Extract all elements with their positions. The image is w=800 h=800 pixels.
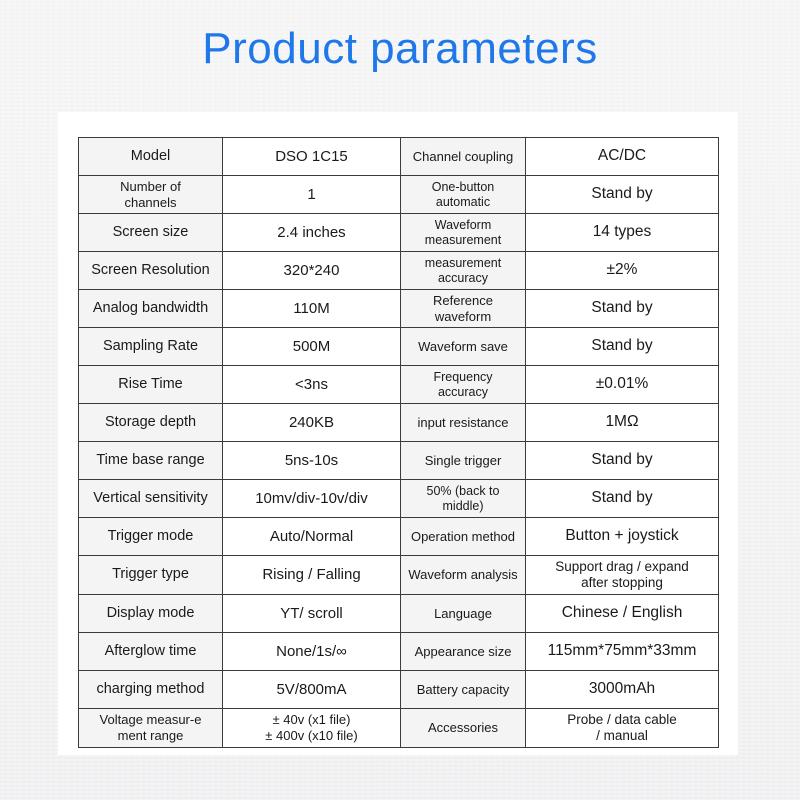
param-value-left: None/1s/∞ — [223, 632, 401, 670]
param-value-right: ±0.01% — [526, 366, 719, 404]
spec-table-row: charging method5V/800mABattery capacity3… — [79, 670, 719, 708]
param-value-left: Rising / Falling — [223, 556, 401, 595]
param-label-left: Time base range — [79, 442, 223, 480]
param-value-right: ±2% — [526, 252, 719, 290]
param-value-left: DSO 1C15 — [223, 138, 401, 176]
param-label-right: 50% (back tomiddle) — [401, 480, 526, 518]
spec-table-row: Display modeYT/ scrollLanguageChinese / … — [79, 594, 719, 632]
spec-table-row: Time base range5ns-10sSingle triggerStan… — [79, 442, 719, 480]
param-value-left: 500M — [223, 328, 401, 366]
param-label-right: Accessories — [401, 708, 526, 747]
param-value-left: 240KB — [223, 404, 401, 442]
param-label-right: Reference waveform — [401, 290, 526, 328]
spec-table-body: ModelDSO 1C15Channel couplingAC/DCNumber… — [79, 138, 719, 748]
param-label-left: Rise Time — [79, 366, 223, 404]
param-label-left: Vertical sensitivity — [79, 480, 223, 518]
param-value-left: 5ns-10s — [223, 442, 401, 480]
param-label-left: Analog bandwidth — [79, 290, 223, 328]
param-label-right: measurementaccuracy — [401, 252, 526, 290]
param-label-left: Trigger mode — [79, 518, 223, 556]
spec-card: ModelDSO 1C15Channel couplingAC/DCNumber… — [58, 112, 738, 755]
spec-table-row: Analog bandwidth110MReference waveformSt… — [79, 290, 719, 328]
param-label-left: Display mode — [79, 594, 223, 632]
param-value-left: ± 40v (x1 file)± 400v (x10 file) — [223, 708, 401, 747]
param-label-left: Trigger type — [79, 556, 223, 595]
param-value-right: 115mm*75mm*33mm — [526, 632, 719, 670]
param-label-right: One-buttonautomatic — [401, 176, 526, 214]
param-label-left: Screen size — [79, 214, 223, 252]
spec-table-row: Trigger modeAuto/NormalOperation methodB… — [79, 518, 719, 556]
param-value-right: Chinese / English — [526, 594, 719, 632]
param-value-right: Button + joystick — [526, 518, 719, 556]
product-parameters-table: ModelDSO 1C15Channel couplingAC/DCNumber… — [78, 137, 719, 748]
param-value-right: AC/DC — [526, 138, 719, 176]
spec-table-row: Rise Time<3nsFrequencyaccuracy±0.01% — [79, 366, 719, 404]
param-label-right: Language — [401, 594, 526, 632]
param-value-left: 2.4 inches — [223, 214, 401, 252]
param-value-left: 10mv/div-10v/div — [223, 480, 401, 518]
spec-table-row: Number ofchannels1One-buttonautomaticSta… — [79, 176, 719, 214]
param-value-left: <3ns — [223, 366, 401, 404]
param-label-right: Waveformmeasurement — [401, 214, 526, 252]
param-label-left: Voltage measur-ement range — [79, 708, 223, 747]
spec-table-row: Storage depth240KBinput resistance1MΩ — [79, 404, 719, 442]
param-label-left: Storage depth — [79, 404, 223, 442]
param-value-right: 14 types — [526, 214, 719, 252]
param-label-right: Channel coupling — [401, 138, 526, 176]
param-label-right: Frequencyaccuracy — [401, 366, 526, 404]
param-value-right: Support drag / expandafter stopping — [526, 556, 719, 595]
param-label-right: Waveform save — [401, 328, 526, 366]
param-label-right: Waveform analysis — [401, 556, 526, 595]
param-value-left: 5V/800mA — [223, 670, 401, 708]
param-label-right: Battery capacity — [401, 670, 526, 708]
param-value-right: Stand by — [526, 480, 719, 518]
param-label-right: Single trigger — [401, 442, 526, 480]
param-label-left: Afterglow time — [79, 632, 223, 670]
param-label-right: Appearance size — [401, 632, 526, 670]
spec-table-row: Afterglow timeNone/1s/∞Appearance size11… — [79, 632, 719, 670]
param-value-right: Stand by — [526, 176, 719, 214]
param-value-right: 1MΩ — [526, 404, 719, 442]
param-label-right: input resistance — [401, 404, 526, 442]
param-label-left: Screen Resolution — [79, 252, 223, 290]
spec-table-row: Voltage measur-ement range± 40v (x1 file… — [79, 708, 719, 747]
param-label-left: Model — [79, 138, 223, 176]
param-value-right: Probe / data cable/ manual — [526, 708, 719, 747]
spec-table-row: ModelDSO 1C15Channel couplingAC/DC — [79, 138, 719, 176]
param-value-left: Auto/Normal — [223, 518, 401, 556]
param-value-right: Stand by — [526, 328, 719, 366]
param-label-left: Sampling Rate — [79, 328, 223, 366]
spec-table-row: Trigger typeRising / FallingWaveform ana… — [79, 556, 719, 595]
spec-table-row: Screen Resolution320*240measurementaccur… — [79, 252, 719, 290]
param-label-left: Number ofchannels — [79, 176, 223, 214]
param-value-left: 320*240 — [223, 252, 401, 290]
param-value-right: Stand by — [526, 442, 719, 480]
param-value-right: Stand by — [526, 290, 719, 328]
page-title: Product parameters — [0, 18, 800, 80]
param-value-right: 3000mAh — [526, 670, 719, 708]
param-label-left: charging method — [79, 670, 223, 708]
spec-table-row: Screen size2.4 inchesWaveformmeasurement… — [79, 214, 719, 252]
param-value-left: YT/ scroll — [223, 594, 401, 632]
spec-table-row: Vertical sensitivity10mv/div-10v/div50% … — [79, 480, 719, 518]
param-value-left: 110M — [223, 290, 401, 328]
param-value-left: 1 — [223, 176, 401, 214]
param-label-right: Operation method — [401, 518, 526, 556]
spec-table-row: Sampling Rate500MWaveform saveStand by — [79, 328, 719, 366]
